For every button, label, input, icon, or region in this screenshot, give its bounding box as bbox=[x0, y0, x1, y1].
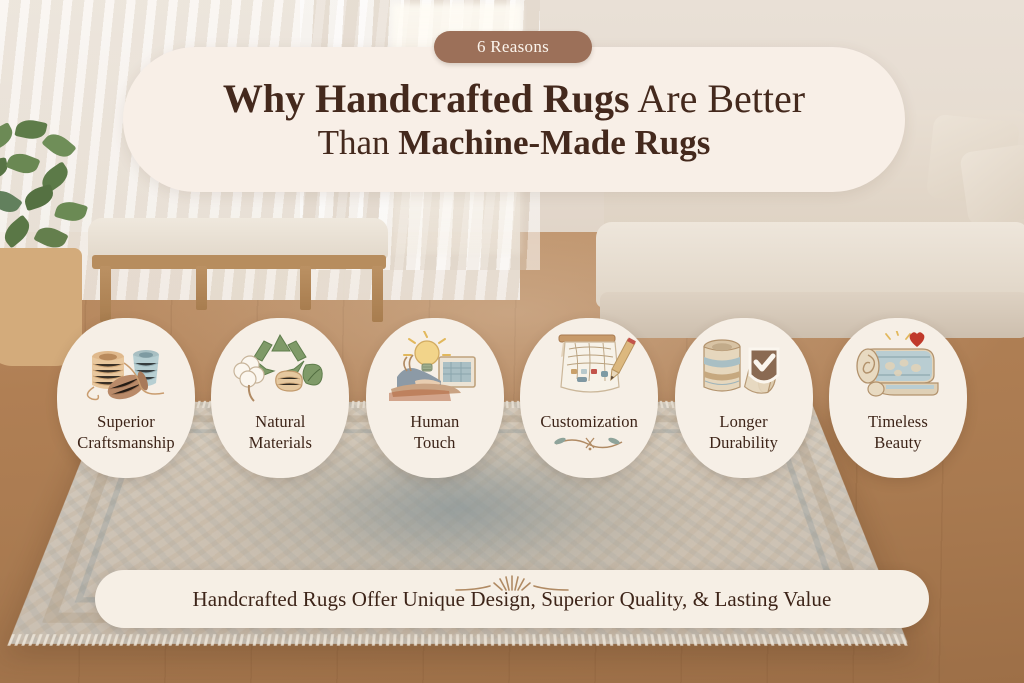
title-emphasis: Why Handcrafted Rugs bbox=[223, 76, 630, 121]
feature-card-label: Timeless Beauty bbox=[868, 411, 928, 453]
label-line-1: Superior bbox=[97, 412, 155, 431]
page-title-line-1: Why Handcrafted Rugs Are Better bbox=[223, 77, 805, 122]
title-line2-emphasis: Machine-Made Rugs bbox=[398, 123, 710, 162]
feature-card-superior-craftsmanship[interactable]: Superior Craftsmanship bbox=[57, 318, 195, 478]
bench-leg bbox=[100, 266, 111, 322]
title-rest: Are Better bbox=[630, 76, 806, 121]
feature-card-longer-durability[interactable]: Longer Durability bbox=[675, 318, 813, 478]
feature-card-label: Human Touch bbox=[410, 411, 459, 453]
rug-shield-check-icon bbox=[692, 331, 796, 405]
fan-sunburst-ornament bbox=[432, 572, 592, 599]
vine-flourish-ornament bbox=[546, 434, 632, 452]
title-line2-prefix: Than bbox=[318, 123, 399, 162]
label-line-2: Beauty bbox=[874, 433, 921, 452]
thread-spools-icon bbox=[74, 331, 178, 405]
reasons-badge-label: 6 Reasons bbox=[477, 37, 549, 57]
label-line-1: Human bbox=[410, 412, 459, 431]
bench-leg bbox=[196, 266, 207, 310]
sofa-pillow bbox=[959, 143, 1024, 226]
label-line-2: Durability bbox=[709, 433, 778, 452]
page-title-line-2: Than Machine-Made Rugs bbox=[318, 123, 711, 162]
label-line-2: Materials bbox=[249, 433, 312, 452]
infographic-canvas: 6 Reasons Why Handcrafted Rugs Are Bette… bbox=[0, 0, 1024, 683]
feature-card-row: Superior Craftsmanship bbox=[57, 318, 967, 478]
recycle-cotton-icon bbox=[228, 331, 332, 405]
bench-cushion bbox=[88, 218, 388, 260]
bottom-banner: Handcrafted Rugs Offer Unique Design, Su… bbox=[95, 570, 929, 628]
title-panel: Why Handcrafted Rugs Are Better Than Mac… bbox=[123, 47, 905, 192]
rug-fringe bbox=[7, 634, 908, 646]
bench-leg bbox=[372, 266, 383, 322]
feature-card-timeless-beauty[interactable]: Timeless Beauty bbox=[829, 318, 967, 478]
feature-card-label: Natural Materials bbox=[249, 411, 312, 453]
feature-card-human-touch[interactable]: Human Touch bbox=[366, 318, 504, 478]
feature-card-natural-materials[interactable]: Natural Materials bbox=[211, 318, 349, 478]
bench-frame bbox=[92, 255, 386, 269]
label-line-1: Longer bbox=[719, 412, 767, 431]
bench-leg bbox=[300, 266, 311, 310]
lightbulb-weaving-icon bbox=[383, 331, 487, 405]
rolled-rug-heart-icon bbox=[846, 331, 950, 405]
feature-card-label: Longer Durability bbox=[709, 411, 778, 453]
reasons-badge: 6 Reasons bbox=[434, 31, 592, 63]
label-line-1: Customization bbox=[540, 412, 638, 431]
label-line-2: Craftsmanship bbox=[77, 433, 175, 452]
label-line-2: Touch bbox=[414, 433, 456, 452]
design-sketch-pencil-icon bbox=[537, 331, 641, 405]
label-line-1: Natural bbox=[255, 412, 305, 431]
feature-card-customization[interactable]: Customization bbox=[520, 318, 658, 478]
label-line-1: Timeless bbox=[868, 412, 928, 431]
feature-card-label: Customization bbox=[540, 411, 638, 432]
feature-card-label: Superior Craftsmanship bbox=[77, 411, 175, 453]
